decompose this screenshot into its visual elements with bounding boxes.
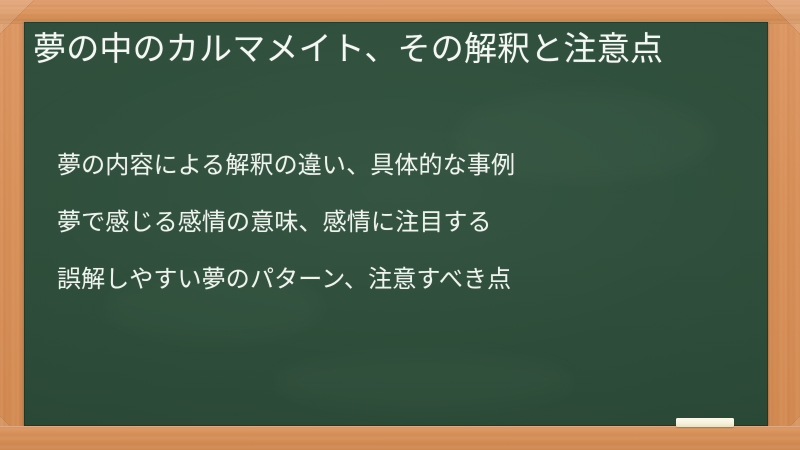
chalkboard-surface: 夢の中のカルマメイト、その解釈と注意点 夢の内容による解釈の違い、具体的な事例 … [24,22,768,426]
bullet-item-3: 誤解しやすい夢のパターン、注意すべき点 [57,264,747,294]
board-content: 夢の中のカルマメイト、その解釈と注意点 夢の内容による解釈の違い、具体的な事例 … [24,22,768,426]
bullet-item-2: 夢で感じる感情の意味、感情に注目する [57,207,747,237]
chalk-stick-icon [676,418,734,427]
chalk-tray [0,426,800,450]
bullet-list: 夢の内容による解釈の違い、具体的な事例 夢で感じる感情の意味、感情に注目する 誤… [57,150,747,295]
slide-title: 夢の中のカルマメイト、その解釈と注意点 [33,27,749,72]
bullet-item-1: 夢の内容による解釈の違い、具体的な事例 [57,150,747,180]
slide-canvas: 夢の中のカルマメイト、その解釈と注意点 夢の内容による解釈の違い、具体的な事例 … [0,0,800,450]
frame-rail-top [0,0,800,24]
